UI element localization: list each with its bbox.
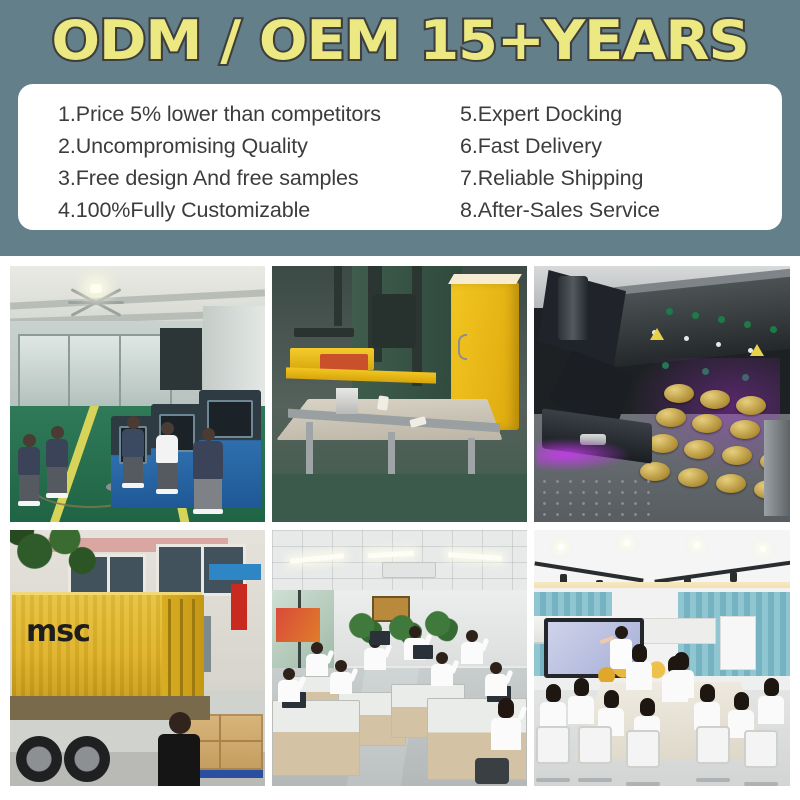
photo-open-office (272, 530, 527, 786)
photo-meeting-room (534, 530, 790, 786)
photo-conveyor-line (272, 266, 527, 522)
feature-item: 7.Reliable Shipping (460, 162, 782, 194)
feature-item: 2.Uncompromising Quality (58, 130, 448, 162)
page-title: ODM / OEM 15+YEARS (0, 8, 800, 74)
feature-item: 8.After-Sales Service (460, 194, 782, 226)
feature-item: 4.100%Fully Customizable (58, 194, 448, 226)
feature-item: 3.Free design And free samples (58, 162, 448, 194)
feature-item: 5.Expert Docking (460, 98, 782, 130)
feature-item: 1.Price 5% lower than competitors (58, 98, 448, 130)
photo-cnc-workshop (10, 266, 265, 522)
photo-grid: msc (10, 266, 790, 790)
feature-column-left: 1.Price 5% lower than competitors 2.Unco… (18, 98, 448, 230)
feature-list-card: 1.Price 5% lower than competitors 2.Unco… (18, 84, 782, 230)
photo-msc-container: msc (10, 530, 265, 786)
promo-page: ODM / OEM 15+YEARS 1.Price 5% lower than… (0, 0, 800, 800)
photo-uv-printer (534, 266, 790, 522)
msc-logo: msc (26, 619, 90, 644)
feature-item: 6.Fast Delivery (460, 130, 782, 162)
header-band: ODM / OEM 15+YEARS 1.Price 5% lower than… (0, 0, 800, 256)
feature-column-right: 5.Expert Docking 6.Fast Delivery 7.Relia… (448, 98, 782, 230)
